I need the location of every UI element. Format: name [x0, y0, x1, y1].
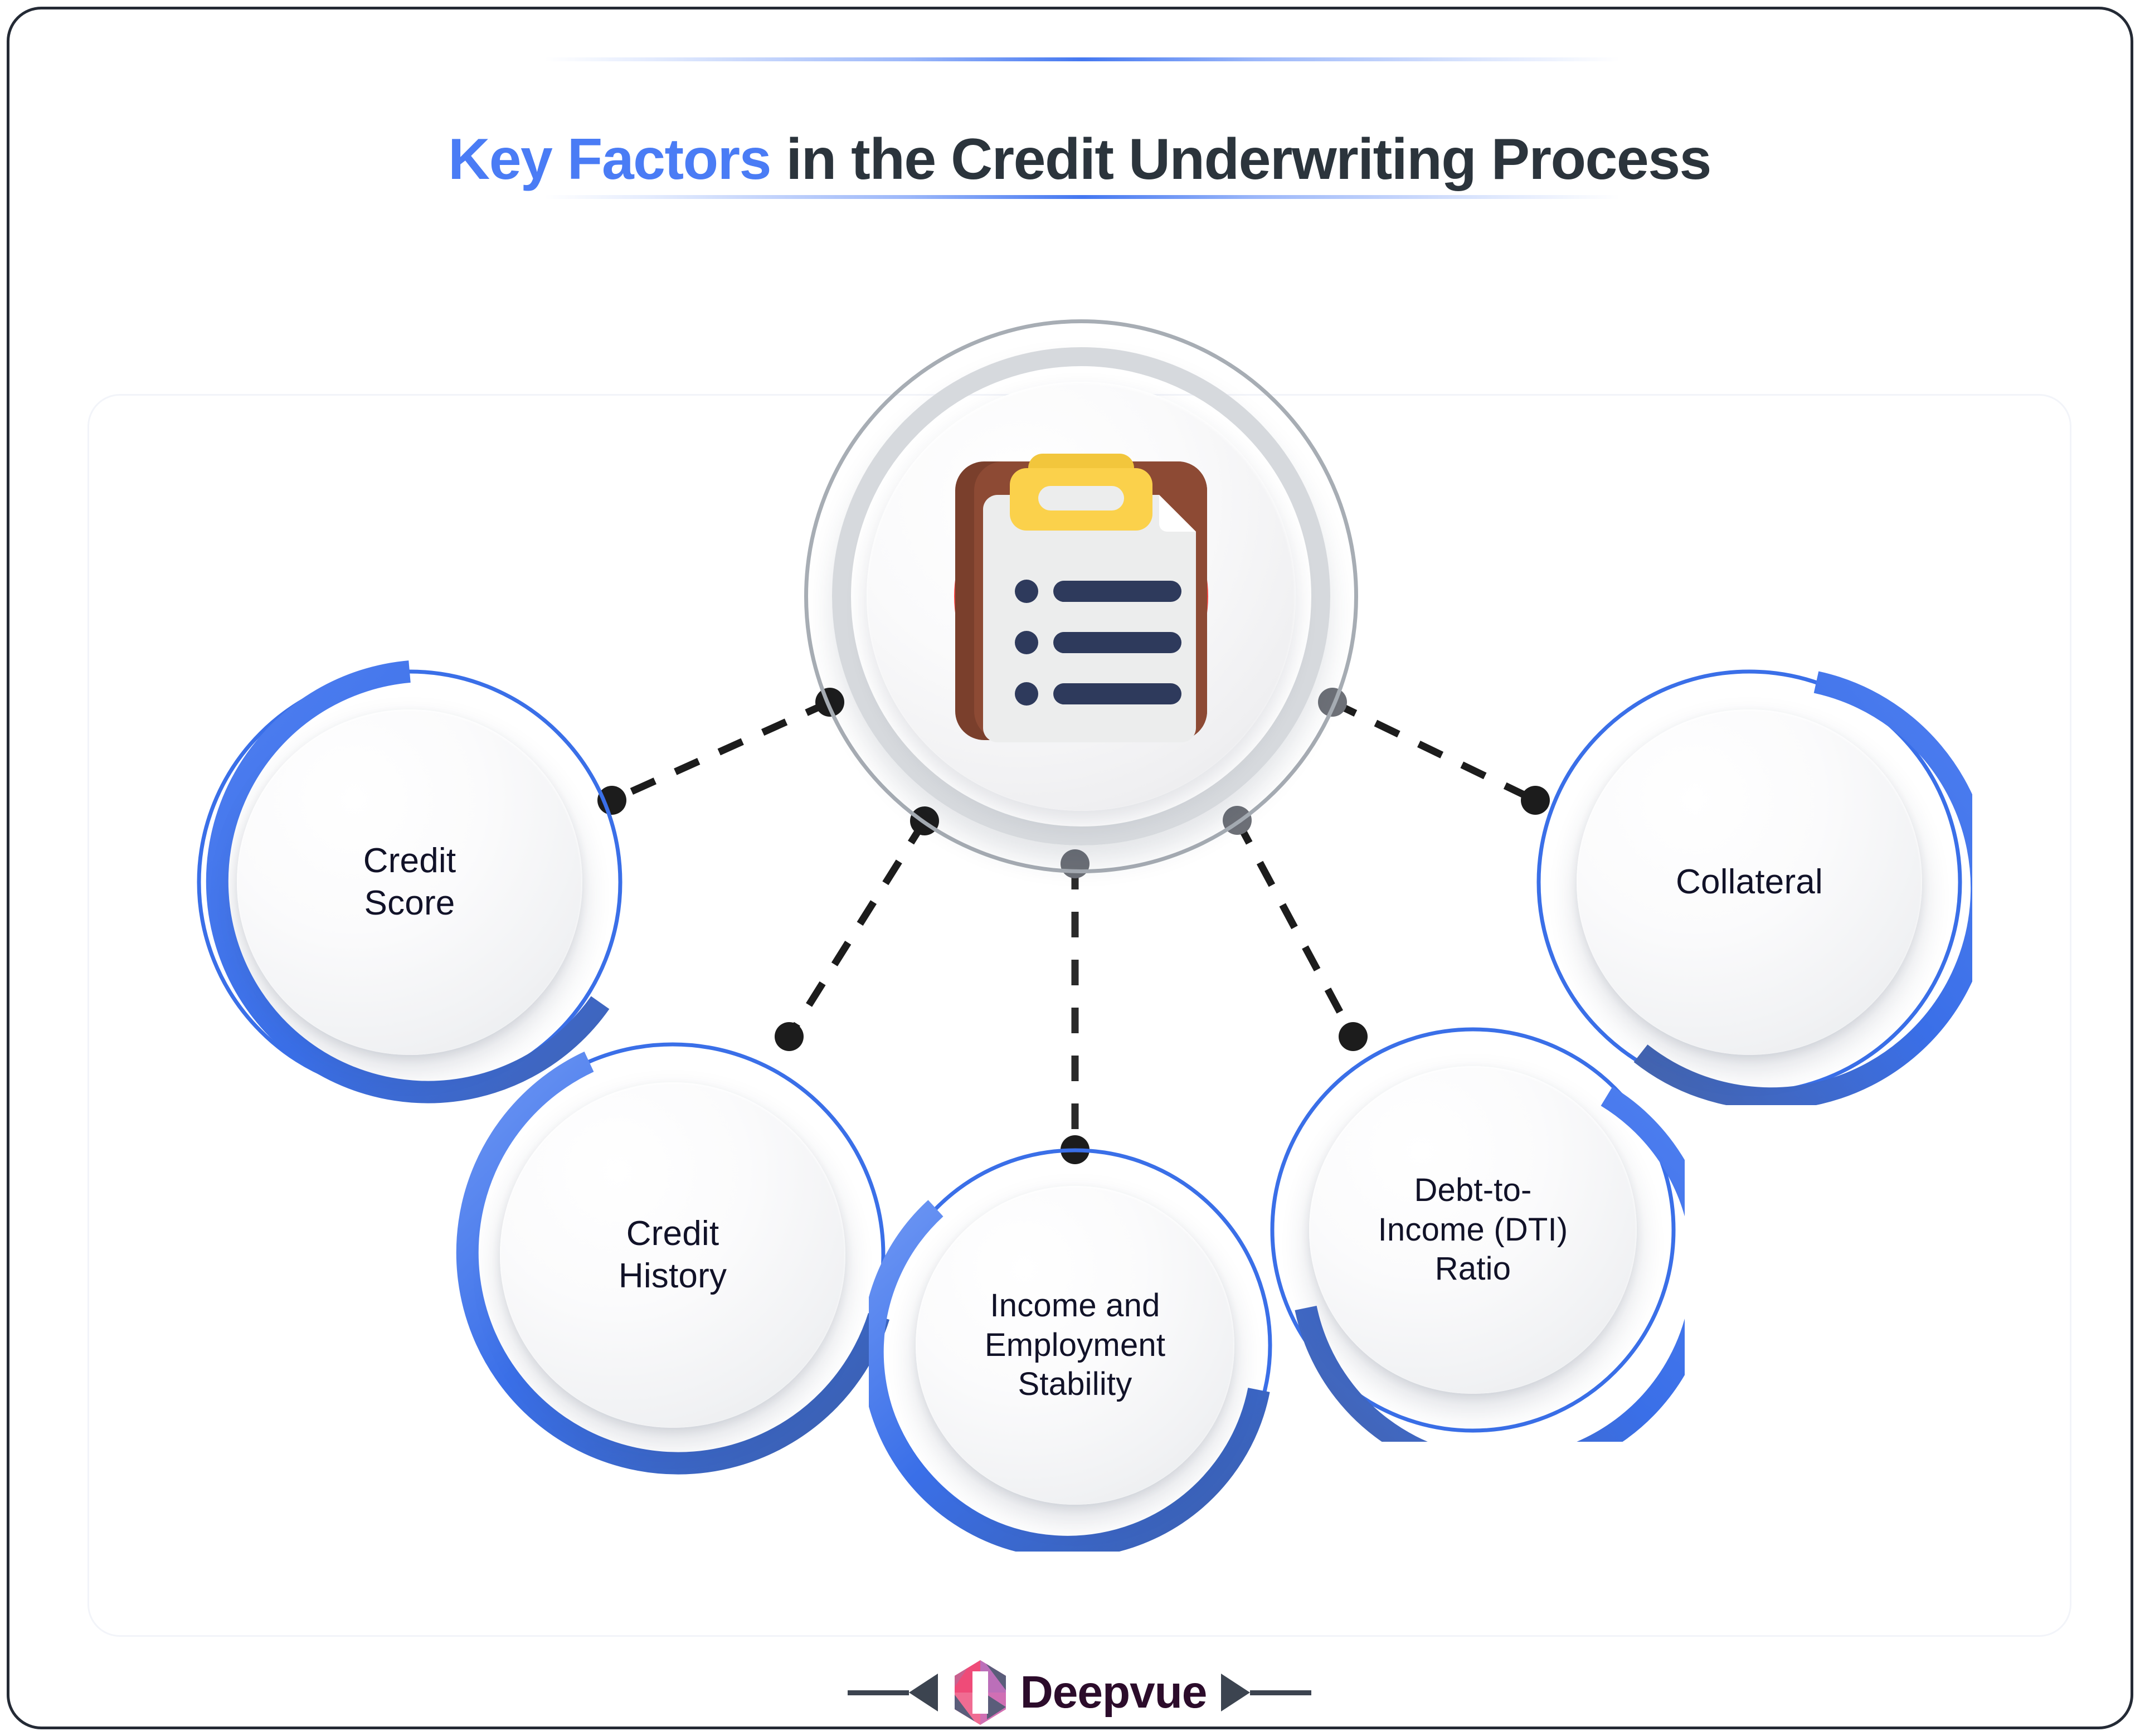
infographic-card: Key Factors in the Credit Underwriting P…: [7, 7, 2133, 1729]
rail-left: [848, 1674, 938, 1711]
diagram-stage: Credit Score Credit History: [9, 9, 2133, 1729]
center-hub: [800, 315, 1363, 878]
rail-right-line: [1250, 1690, 1311, 1695]
node-label-collateral: Collateral: [1526, 659, 1972, 1105]
brand-name: Deepvue: [1020, 1666, 1207, 1719]
rail-left-arrow-icon: [909, 1674, 938, 1711]
brand-lockup: Deepvue: [952, 1659, 1207, 1726]
wire-credit-score: [612, 702, 830, 800]
wire-collateral: [1332, 702, 1535, 800]
rail-right: [1221, 1674, 1311, 1711]
node-collateral[interactable]: Collateral: [1526, 659, 1972, 1105]
rail-right-arrow-icon: [1221, 1674, 1250, 1711]
node-label-credit-history: Credit History: [450, 1032, 896, 1478]
clipboard-checklist-icon: [914, 429, 1248, 764]
deepvue-hexagon-logo: [952, 1659, 1008, 1726]
node-income-employment[interactable]: Income and Employment Stability: [869, 1139, 1281, 1552]
node-label-income-employment: Income and Employment Stability: [869, 1139, 1281, 1552]
node-credit-history[interactable]: Credit History: [450, 1032, 896, 1478]
rail-left-line: [848, 1690, 909, 1695]
footer: Deepvue: [9, 1659, 2133, 1726]
